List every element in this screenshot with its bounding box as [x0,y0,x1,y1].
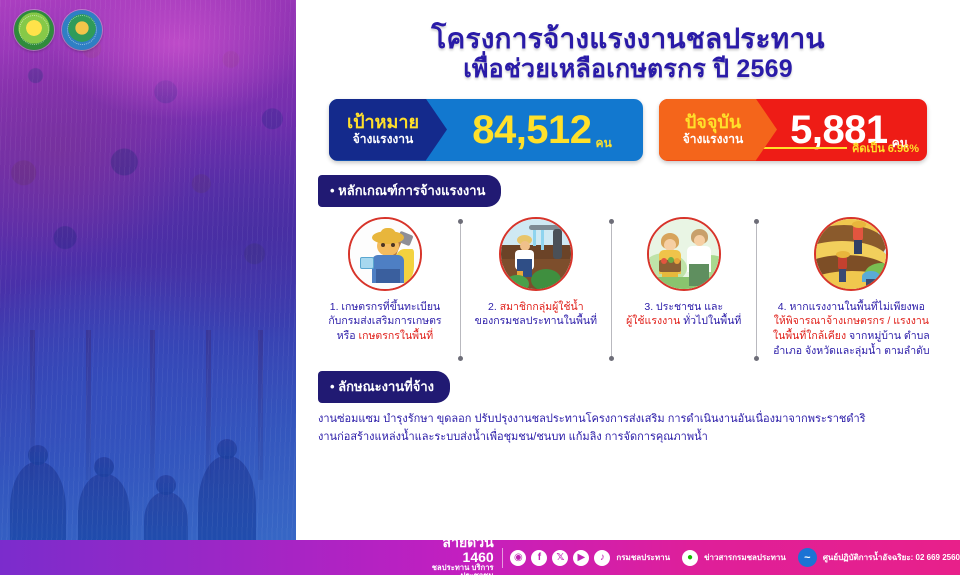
target-value: 84,512 [472,110,591,150]
content-panel: โครงการจ้างแรงงานชลประทาน เพื่อช่วยเหลือ… [296,0,960,540]
line-group: ● ข่าวสารกรมชลประทาน [682,550,786,566]
criteria-1-line3-prefix: หรือ [337,330,359,342]
rice-terrace-workers-icon [814,217,888,291]
royal-garuda-emblem-green-icon [14,10,54,50]
social-label: กรมชลประทาน [616,551,670,564]
criteria-2-line2: ของกรมชลประทานในพื้นที่ [475,314,597,329]
criteria-3-line2-highlight: ผู้ใช้แรงงาน [626,315,680,327]
target-label: เป้าหมาย จ้างแรงงาน [329,99,447,161]
social-icons-group: ◉ f 𝕏 ▶ ♪ [510,550,610,566]
criteria-caption-1: 1. เกษตรกรที่ขึ้นทะเบียน กับกรมส่งเสริมก… [328,300,441,345]
line-label: ข่าวสารกรมชลประทาน [704,551,786,564]
criteria-divider-3 [756,221,757,360]
government-emblems [14,10,102,50]
title-line-2: เพื่อช่วยเหลือเกษตรกร ปี 2569 [296,55,960,85]
percent-note: คิดเป็น 6.96% [852,139,919,157]
work-line-2: งานก่อสร้างแหล่งน้ำและระบบส่งน้ำเพื่อชุม… [318,429,960,447]
criteria-item-3: 3. ประชาชน และ ผู้ใช้แรงงาน ทั่วไปในพื้น… [614,217,754,360]
current-label-line2: จ้างแรงงาน [683,132,743,146]
criteria-list: 1. เกษตรกรที่ขึ้นทะเบียน กับกรมส่งเสริมก… [296,217,960,360]
criteria-1-line1: 1. เกษตรกรที่ขึ้นทะเบียน [328,300,441,315]
stat-banner-target: เป้าหมาย จ้างแรงงาน 84,512 คน [329,99,643,161]
criteria-1-line3-highlight: เกษตรกรในพื้นที่ [359,330,434,342]
tiktok-icon[interactable]: ♪ [594,550,610,566]
page-title: โครงการจ้างแรงงานชลประทาน เพื่อช่วยเหลือ… [296,0,960,85]
criteria-4-line1: 4. หากแรงงานในพื้นที่ไม่เพียงพอ [773,300,930,315]
water-center-group: ~ ศูนย์ปฏิบัติการน้ำอัจฉริยะ: 02 669 256… [798,548,960,567]
target-label-line1: เป้าหมาย [347,113,419,132]
criteria-caption-2: 2. สมาชิกกลุ่มผู้ใช้น้ำ ของกรมชลประทานใน… [475,300,597,330]
work-body: งานซ่อมแซม บำรุงรักษา ขุดลอก ปรับปรุงงาน… [318,411,960,447]
target-value-area: 84,512 คน [447,99,643,161]
criteria-3-line1: 3. ประชาชน และ [626,300,741,315]
criteria-section: • หลักเกณฑ์การจ้างแรงงาน [296,175,960,360]
infographic-poster: โครงการจ้างแรงงานชลประทาน เพื่อช่วยเหลือ… [0,0,960,575]
criteria-4-line2: ให้พิจารณาจ้างเกษตรกร / แรงงาน [773,314,930,329]
current-label-line1: ปัจจุบัน [685,113,741,132]
facebook-icon[interactable]: f [531,550,547,566]
people-with-produce-icon [647,217,721,291]
criteria-heading: • หลักเกณฑ์การจ้างแรงงาน [318,175,501,207]
criteria-4-line4: อำเภอ จังหวัดและลุ่มน้ำ ตามลำดับ [773,344,930,359]
work-heading: • ลักษณะงานที่จ้าง [318,371,450,403]
criteria-item-2: 2. สมาชิกกลุ่มผู้ใช้น้ำ ของกรมชลประทานใน… [463,217,609,360]
percent-note-group: คิดเป็น 6.96% [761,139,919,157]
royal-garuda-emblem-blue-icon [62,10,102,50]
current-label: ปัจจุบัน จ้างแรงงาน [659,99,777,161]
x-twitter-icon[interactable]: 𝕏 [552,550,568,566]
rid-logo-icon[interactable]: ◉ [510,550,526,566]
line-app-icon[interactable]: ● [682,550,698,566]
work-line-1: งานซ่อมแซม บำรุงรักษา ขุดลอก ปรับปรุงงาน… [318,411,960,429]
criteria-4-line3-highlight: ในพื้นที่ใกล้เคียง [773,330,846,342]
hotline-number: สายด่วน 1460 [425,535,494,564]
criteria-4-line3-suffix: จากหมู่บ้าน ตำบล [846,330,930,342]
footer-bar: สายด่วน 1460 ชลประทาน บริการประชาชน ◉ f … [0,540,960,575]
target-unit: คน [596,134,612,153]
farmer-with-hoe-icon [348,217,422,291]
criteria-divider-1 [460,221,461,360]
stat-banner-current: ปัจจุบัน จ้างแรงงาน 5,881 คน คิดเป็น 6.9… [659,99,927,161]
footer-separator [502,548,503,568]
title-line-1: โครงการจ้างแรงงานชลประทาน [296,22,960,55]
irrigation-water-user-icon [499,217,573,291]
criteria-2-line1-prefix: 2. [488,301,500,313]
work-section: • ลักษณะงานที่จ้าง งานซ่อมแซม บำรุงรักษา… [296,371,960,447]
hotline-block: สายด่วน 1460 ชลประทาน บริการประชาชน [425,535,494,575]
criteria-2-line1-highlight: สมาชิกกลุ่มผู้ใช้น้ำ [500,301,584,313]
criteria-item-4: 4. หากแรงงานในพื้นที่ไม่เพียงพอ ให้พิจาร… [759,217,944,360]
criteria-item-1: 1. เกษตรกรที่ขึ้นทะเบียน กับกรมส่งเสริมก… [312,217,458,360]
water-center-icon[interactable]: ~ [798,548,817,567]
criteria-divider-2 [611,221,612,360]
criteria-caption-4: 4. หากแรงงานในพื้นที่ไม่เพียงพอ ให้พิจาร… [773,300,930,360]
statistics-banners: เป้าหมาย จ้างแรงงาน 84,512 คน ปัจจุบัน จ… [296,99,960,161]
target-label-line2: จ้างแรงงาน [353,132,413,146]
youtube-icon[interactable]: ▶ [573,550,589,566]
background-photo-farmers [0,0,296,540]
water-center-label: ศูนย์ปฏิบัติการน้ำอัจฉริยะ: 02 669 2560 [823,551,960,564]
hotline-subtitle: ชลประทาน บริการประชาชน [425,564,494,575]
criteria-1-line2: กับกรมส่งเสริมการเกษตร [328,314,441,329]
percent-rule [761,147,847,149]
criteria-caption-3: 3. ประชาชน และ ผู้ใช้แรงงาน ทั่วไปในพื้น… [626,300,741,330]
criteria-3-line2-suffix: ทั่วไปในพื้นที่ [680,315,741,327]
